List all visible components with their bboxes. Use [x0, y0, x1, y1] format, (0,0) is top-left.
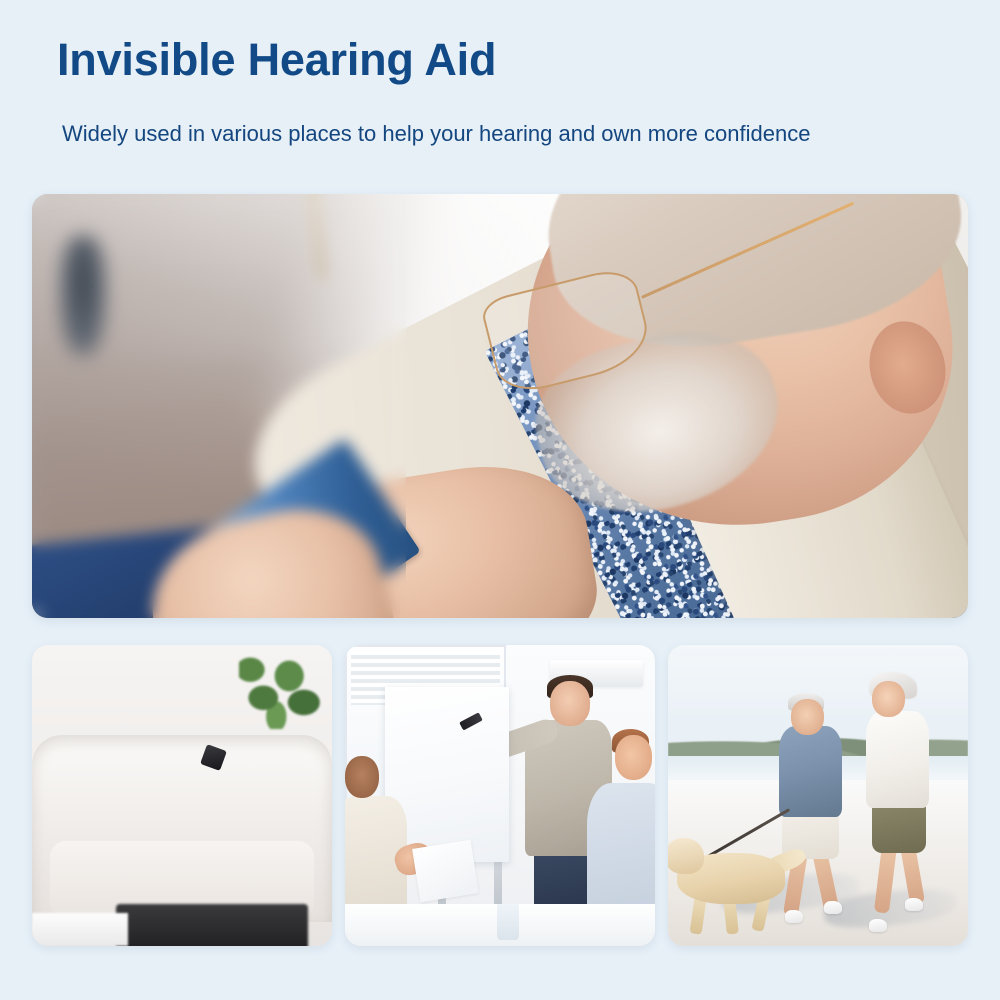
t2-paper-document: [412, 839, 479, 902]
t2-water-glass: [497, 904, 519, 940]
t2-presenter-head: [550, 681, 590, 726]
t3-woman-head: [872, 681, 905, 717]
t3-man-head: [791, 699, 824, 735]
thumbnail-row: Smiling senior couple sitting on a white…: [32, 645, 968, 946]
t3-running-shoe: [905, 898, 923, 912]
hero-depth-of-field-blur: [32, 194, 406, 618]
t3-running-shoe: [785, 910, 803, 924]
t2-attendee-right-head: [615, 735, 652, 780]
hero-scene: [32, 194, 968, 618]
hero-image: [32, 194, 968, 618]
t1-television: [116, 904, 308, 946]
t2-attendee-right-body: [587, 783, 655, 921]
thumbnail-beach-jogging: Senior couple jogging along a sunny beac…: [668, 645, 968, 946]
t3-golden-retriever-head: [668, 838, 704, 874]
thumbnail-couple-watching-tv: Smiling senior couple sitting on a white…: [32, 645, 332, 946]
t3-running-shoe: [824, 901, 842, 915]
page-title: Invisible Hearing Aid: [57, 36, 496, 83]
eyeglass-lens: [479, 264, 656, 398]
t3-running-shoe: [869, 919, 887, 933]
t3-woman-tshirt: [866, 711, 929, 807]
t1-table-surface: [32, 913, 128, 946]
page-subtitle: Widely used in various places to help yo…: [62, 120, 810, 148]
t1-houseplant: [239, 651, 320, 729]
t2-attendee-left-head: [345, 756, 379, 798]
product-banner-page: Invisible Hearing Aid Widely used in var…: [0, 0, 1000, 1000]
t3-man-tshirt: [779, 726, 842, 816]
thumbnail-office-presentation: Man presenting at a flipchart with a mar…: [345, 645, 655, 946]
